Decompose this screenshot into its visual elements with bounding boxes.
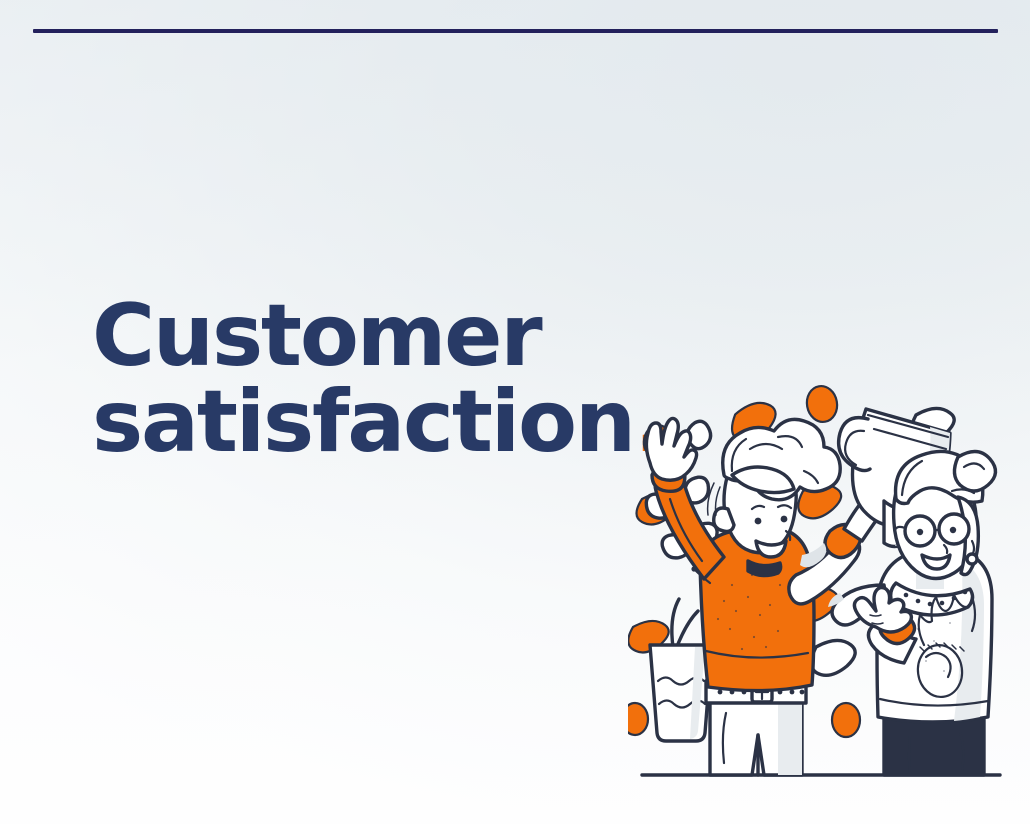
slide-canvas: Customer satisfaction. .ln { fill:none; … (0, 0, 1030, 824)
page-title-line-2: satisfaction. (92, 382, 612, 464)
celebration-illustration: .ln { fill:none; stroke:#2b3245; stroke-… (628, 379, 1014, 791)
page-title-line-1: Customer (92, 296, 612, 378)
divider-line-top (33, 29, 998, 33)
page-title: Customer satisfaction. (92, 296, 612, 463)
page-title-line-2-text: satisfaction (92, 372, 634, 472)
